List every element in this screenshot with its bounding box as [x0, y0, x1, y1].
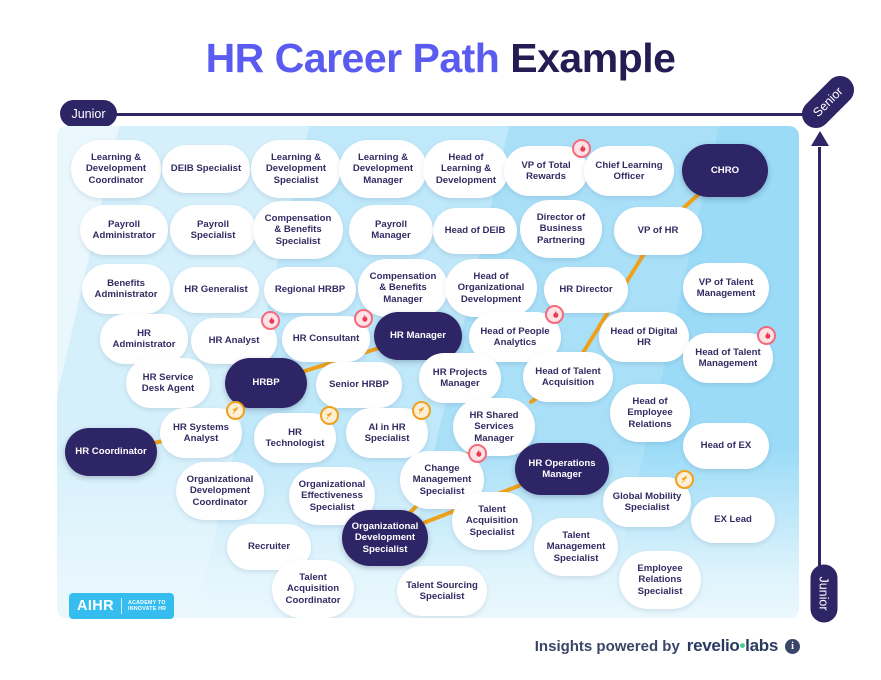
- role-node-label: Head of EX: [689, 440, 763, 451]
- aihr-logo: AIHR ACADEMY TO INNOVATE HR: [69, 593, 174, 619]
- role-node-org-dev-specialist[interactable]: Organizational Development Specialist: [342, 510, 428, 566]
- role-node-talent-acq-spec[interactable]: Talent Acquisition Specialist: [452, 492, 532, 550]
- role-node-label: HR Administrator: [106, 328, 182, 351]
- flame-icon: [468, 444, 487, 463]
- role-node-label: Payroll Specialist: [176, 219, 250, 242]
- role-node-label: Talent Sourcing Specialist: [403, 580, 481, 603]
- role-node-label: HR Director: [550, 284, 622, 295]
- role-node-head-ex[interactable]: Head of EX: [683, 423, 769, 469]
- role-node-label: HRBP: [231, 377, 301, 388]
- role-node-comp-benefits-mgr[interactable]: Compensation & Benefits Manager: [358, 259, 448, 317]
- role-node-label: HR Generalist: [179, 284, 253, 295]
- role-node-label: DEIB Specialist: [168, 163, 244, 174]
- seniority-axis-vertical: Junior: [806, 125, 836, 625]
- role-node-head-employee-rel[interactable]: Head of Employee Relations: [610, 384, 690, 442]
- role-node-label: Head of People Analytics: [475, 326, 555, 349]
- role-node-org-dev-coordinator[interactable]: Organizational Development Coordinator: [176, 462, 264, 520]
- rocket-icon: [226, 401, 245, 420]
- role-node-payroll-specialist[interactable]: Payroll Specialist: [170, 205, 256, 255]
- role-node-benefits-administrator[interactable]: Benefits Administrator: [82, 264, 170, 314]
- axis-right-junior-label: Junior: [811, 565, 838, 623]
- role-node-label: VP of Total Rewards: [510, 160, 582, 183]
- role-node-vp-hr[interactable]: VP of HR: [614, 207, 702, 255]
- role-node-employee-rel-spec[interactable]: Employee Relations Specialist: [619, 551, 701, 609]
- role-node-label: HR Operations Manager: [521, 458, 603, 481]
- role-node-label: Head of DEIB: [439, 225, 511, 236]
- role-node-label: AI in HR Specialist: [352, 422, 422, 445]
- seniority-axis-horizontal: Junior: [60, 100, 820, 128]
- role-node-label: HR Consultant: [288, 333, 364, 344]
- role-node-label: Recruiter: [233, 541, 305, 552]
- role-node-label: Head of Organizational Development: [451, 271, 531, 305]
- role-node-vp-talent-mgmt[interactable]: VP of Talent Management: [683, 263, 769, 313]
- role-node-comp-benefits-spec[interactable]: Compensation & Benefits Specialist: [253, 201, 343, 259]
- brand-revelio: revelio: [687, 636, 740, 655]
- role-node-label: HR Service Desk Agent: [132, 372, 204, 395]
- page-title: HR Career Path Example: [0, 38, 881, 79]
- role-node-label: Global Mobility Specialist: [609, 491, 685, 514]
- role-node-talent-mgmt-spec[interactable]: Talent Management Specialist: [534, 518, 618, 576]
- role-node-label: HR Technologist: [260, 427, 330, 450]
- role-node-regional-hrbp[interactable]: Regional HRBP: [264, 267, 356, 313]
- role-node-label: HR Shared Services Manager: [459, 410, 529, 444]
- title-dark-text: Example: [510, 35, 675, 81]
- role-node-label: Organizational Development Specialist: [348, 521, 422, 555]
- role-node-payroll-manager[interactable]: Payroll Manager: [349, 205, 433, 255]
- role-node-talent-sourcing-spec[interactable]: Talent Sourcing Specialist: [397, 566, 487, 616]
- role-node-label: Compensation & Benefits Specialist: [259, 213, 337, 247]
- footer-prefix: Insights powered by: [535, 638, 680, 655]
- role-node-hr-generalist[interactable]: HR Generalist: [173, 267, 259, 313]
- role-node-ex-lead[interactable]: EX Lead: [691, 497, 775, 543]
- role-node-label: Head of Learning & Development: [429, 152, 503, 186]
- axis-right-line: [818, 147, 821, 602]
- role-node-hr-coordinator[interactable]: HR Coordinator: [65, 428, 157, 476]
- role-node-label: VP of HR: [620, 225, 696, 236]
- role-node-ld-specialist[interactable]: Learning & Development Specialist: [251, 140, 341, 198]
- rocket-icon: [320, 406, 339, 425]
- role-node-label: EX Lead: [697, 514, 769, 525]
- career-map-board: Learning & Development CoordinatorDEIB S…: [57, 126, 799, 618]
- role-node-label: Head of Talent Management: [689, 347, 767, 370]
- role-node-head-digital-hr[interactable]: Head of Digital HR: [599, 312, 689, 362]
- title-accent-text: HR Career Path: [206, 35, 511, 81]
- info-icon[interactable]: i: [785, 639, 800, 654]
- flame-icon: [545, 305, 564, 324]
- role-node-label: Director of Business Partnering: [526, 212, 596, 246]
- role-node-label: CHRO: [688, 165, 762, 176]
- role-node-label: Chief Learning Officer: [590, 160, 668, 183]
- flame-icon: [261, 311, 280, 330]
- role-node-ld-manager[interactable]: Learning & Development Manager: [339, 140, 427, 198]
- role-node-label: Benefits Administrator: [88, 278, 164, 301]
- role-node-label: HR Systems Analyst: [166, 422, 236, 445]
- role-node-director-bp[interactable]: Director of Business Partnering: [520, 200, 602, 258]
- role-node-chief-learning-officer[interactable]: Chief Learning Officer: [584, 146, 674, 196]
- role-node-label: Talent Management Specialist: [540, 530, 612, 564]
- role-node-hr-administrator[interactable]: HR Administrator: [100, 314, 188, 364]
- role-node-hr-shared-services[interactable]: HR Shared Services Manager: [453, 398, 535, 456]
- role-node-label: Learning & Development Specialist: [257, 152, 335, 186]
- role-node-label: Regional HRBP: [270, 284, 350, 295]
- role-node-label: VP of Talent Management: [689, 277, 763, 300]
- role-node-label: Change Management Specialist: [406, 463, 478, 497]
- role-node-label: HR Coordinator: [71, 446, 151, 457]
- brand-labs: labs: [745, 636, 778, 655]
- footer-attribution: Insights powered by revelio•labs i: [0, 636, 800, 656]
- flame-icon: [757, 326, 776, 345]
- role-node-hr-operations-mgr[interactable]: HR Operations Manager: [515, 443, 609, 495]
- axis-top-junior-label: Junior: [60, 100, 117, 127]
- arrow-up-icon: [811, 131, 829, 146]
- role-node-label: Talent Acquisition Coordinator: [278, 572, 348, 606]
- role-node-label: Payroll Administrator: [86, 219, 162, 242]
- role-node-talent-acq-coord[interactable]: Talent Acquisition Coordinator: [272, 560, 354, 618]
- role-node-payroll-administrator[interactable]: Payroll Administrator: [80, 205, 168, 255]
- role-node-head-org-dev[interactable]: Head of Organizational Development: [445, 259, 537, 317]
- role-node-label: HR Analyst: [197, 335, 271, 346]
- role-node-label: Head of Talent Acquisition: [529, 366, 607, 389]
- role-node-label: Payroll Manager: [355, 219, 427, 242]
- rocket-icon: [412, 401, 431, 420]
- hr-career-path-infographic: HR Career Path Example Junior Senior Jun…: [0, 0, 881, 680]
- rocket-icon: [675, 470, 694, 489]
- role-node-label: Organizational Effectiveness Specialist: [295, 479, 369, 513]
- role-node-label: Head of Employee Relations: [616, 396, 684, 430]
- role-node-label: Senior HRBP: [322, 379, 396, 390]
- aihr-logo-wordmark: AIHR: [77, 598, 121, 614]
- flame-icon: [354, 309, 373, 328]
- role-node-ld-coordinator[interactable]: Learning & Development Coordinator: [71, 140, 161, 198]
- aihr-logo-tagline: ACADEMY TO INNOVATE HR: [122, 600, 166, 613]
- role-node-label: Compensation & Benefits Manager: [364, 271, 442, 305]
- role-node-head-ld[interactable]: Head of Learning & Development: [423, 140, 509, 198]
- role-node-senior-hrbp[interactable]: Senior HRBP: [316, 362, 402, 408]
- role-node-label: Learning & Development Coordinator: [77, 152, 155, 186]
- role-node-chro[interactable]: CHRO: [682, 144, 768, 197]
- role-node-deib-specialist[interactable]: DEIB Specialist: [162, 145, 250, 193]
- role-node-hr-projects-manager[interactable]: HR Projects Manager: [419, 353, 501, 403]
- role-node-label: Talent Acquisition Specialist: [458, 504, 526, 538]
- role-node-label: Organizational Development Coordinator: [182, 474, 258, 508]
- revelio-labs-wordmark: revelio•labs: [687, 636, 778, 656]
- role-node-head-deib[interactable]: Head of DEIB: [433, 208, 517, 254]
- role-node-label: HR Manager: [380, 330, 456, 341]
- role-node-head-talent-acq[interactable]: Head of Talent Acquisition: [523, 352, 613, 402]
- role-node-label: Head of Digital HR: [605, 326, 683, 349]
- role-node-hr-service-desk[interactable]: HR Service Desk Agent: [126, 358, 210, 408]
- axis-top-line: [115, 113, 825, 116]
- role-node-label: Learning & Development Manager: [345, 152, 421, 186]
- role-node-label: Employee Relations Specialist: [625, 563, 695, 597]
- role-node-label: HR Projects Manager: [425, 367, 495, 390]
- flame-icon: [572, 139, 591, 158]
